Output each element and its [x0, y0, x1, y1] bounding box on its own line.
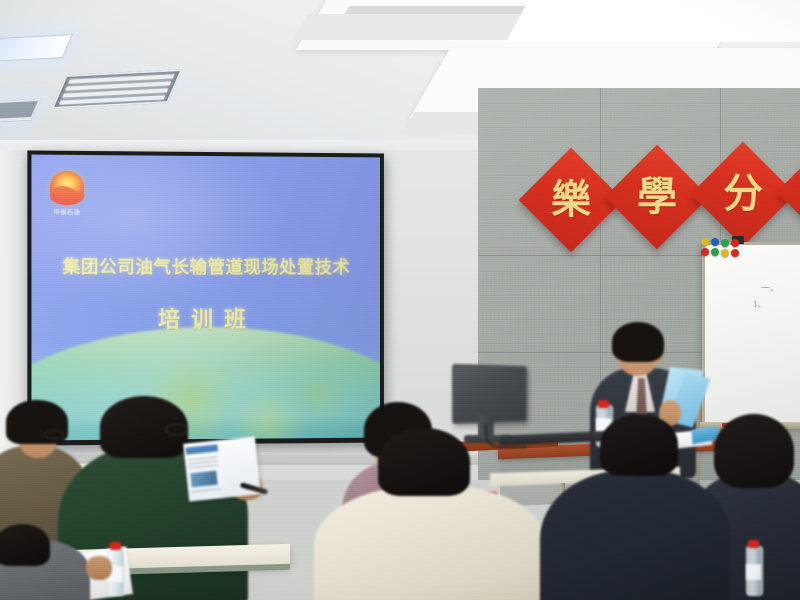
attendee-cream-jacket [314, 486, 544, 600]
attendee-corner-hand [86, 556, 112, 580]
ceiling-coffer-top [506, 0, 800, 42]
logo-caption: 中国石油 [48, 207, 87, 216]
attendee-suit-right-hair [600, 414, 678, 476]
eyeglasses-icon [44, 430, 64, 439]
banner-char-2: 學 [620, 160, 694, 234]
attendee-cream-hair [378, 428, 470, 496]
classroom-photo: 樂 學 分 享 一、 1、 [0, 0, 800, 600]
presenter-hair [612, 322, 664, 362]
attendee-corner-hair [0, 524, 50, 566]
monitor-cable [485, 424, 527, 448]
projection-screen-surface: 中国石油 集团公司油气长输管道现场处置技术 培训班 [31, 155, 380, 441]
whiteboard-surface: 一、 1、 [702, 242, 800, 428]
bottle-cap-icon [110, 542, 121, 550]
whiteboard: 一、 1、 [696, 234, 800, 434]
brochure-photo [190, 471, 217, 488]
slide-globe-atmosphere [31, 338, 380, 424]
whiteboard-magnets [701, 238, 759, 260]
attendee-suit-far-hair [714, 414, 794, 488]
whiteboard-ink-line-2: 1、 [753, 297, 767, 310]
projection-screen-frame: 中国石油 集团公司油气长输管道现场处置技术 培训班 [27, 150, 384, 445]
bottle-cap-icon [598, 400, 609, 408]
ceiling-light-icon [0, 34, 73, 62]
petrochina-sun-logo: 中国石油 [48, 171, 87, 220]
whiteboard-ink-line-1: 一、 [761, 281, 779, 294]
banner-char-4: 享 [792, 155, 800, 229]
bottle-cap-icon [748, 540, 759, 548]
bottle-label [746, 564, 761, 580]
slide-subtitle: 培训班 [31, 302, 380, 334]
brochure-header-band [186, 444, 219, 454]
air-vent-icon [51, 69, 183, 109]
eyeglasses-icon [166, 424, 188, 435]
banner-char-1: 樂 [534, 163, 608, 237]
slide-title: 集团公司油气长输管道现场处置技术 [31, 254, 380, 280]
open-brochure [183, 436, 261, 501]
attendee-suit-right-jacket [540, 470, 730, 600]
banner-char-3: 分 [706, 157, 780, 231]
